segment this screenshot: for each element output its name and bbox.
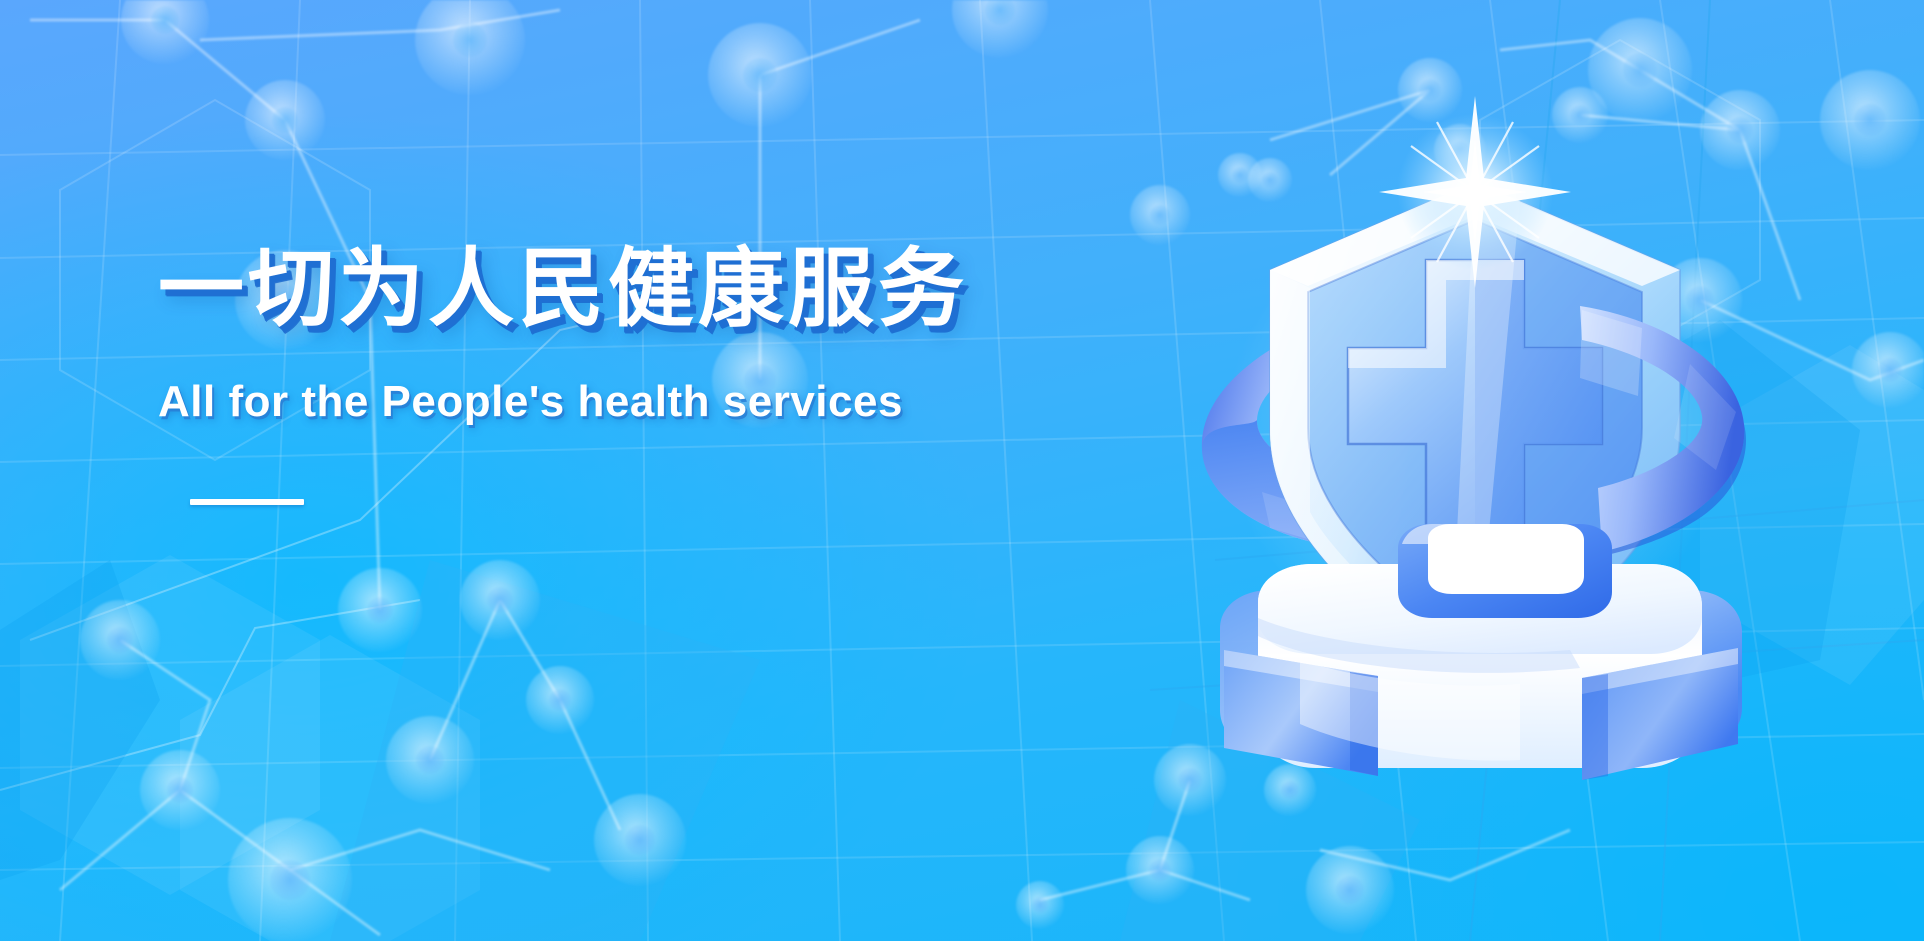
page-title: 一切为人民健康服务 [158, 244, 1088, 334]
hero-illustration [1150, 120, 1800, 840]
shield-podium-illustration-icon [1150, 120, 1800, 840]
title-divider [190, 499, 304, 505]
health-banner: 一切为人民健康服务 All for the People's health se… [0, 0, 1924, 941]
page-subtitle: All for the People's health services [158, 378, 1088, 426]
banner-text-block: 一切为人民健康服务 All for the People's health se… [158, 244, 1088, 505]
